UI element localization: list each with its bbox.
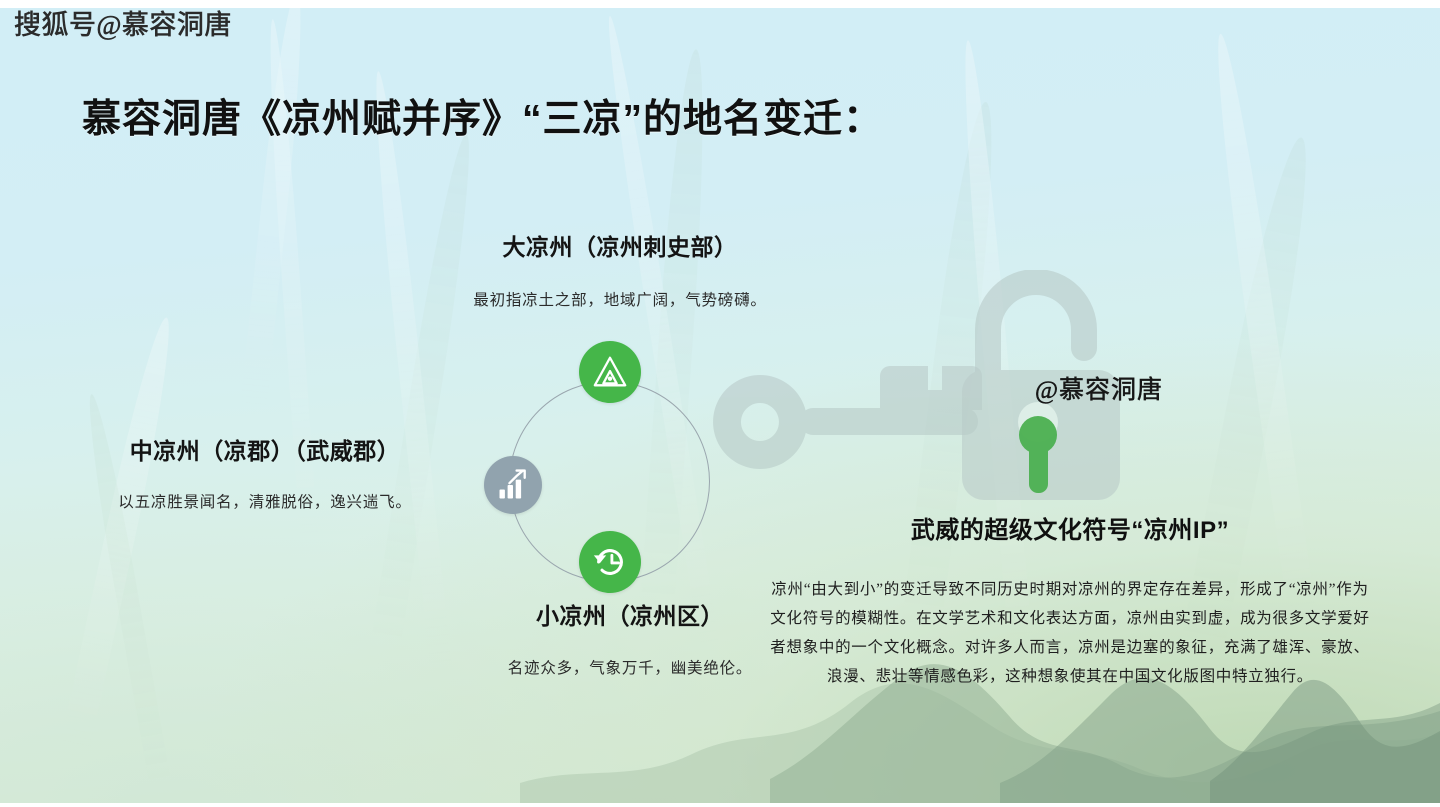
pyramid-triangle-icon (591, 353, 629, 391)
top-white-border (0, 0, 1440, 8)
page-title: 慕容洞唐《凉州赋并序》“三凉”的地名变迁： (82, 88, 883, 144)
right-panel: 武威的超级文化符号“凉州IP” 凉州“由大到小”的变迁导致不同历史时期对凉州的界… (770, 510, 1370, 691)
node-desc-big: 最初指凉土之部，地域广阔，气势磅礴。 (320, 288, 920, 310)
slide-canvas: 搜狐号@慕容洞唐 慕容洞唐《凉州赋并序》“三凉”的地名变迁： @慕容洞唐 (0, 0, 1440, 807)
platform-watermark: 搜狐号@慕容洞唐 (14, 12, 232, 39)
node-text-mid: 中凉州（凉郡）（武威郡） 以五凉胜景闻名，清雅脱俗，逸兴遄飞。 (30, 432, 500, 512)
node-desc-mid: 以五凉胜景闻名，清雅脱俗，逸兴遄飞。 (30, 490, 500, 512)
node-text-big: 大凉州（凉州刺史部） 最初指凉土之部，地域广阔，气势磅礴。 (320, 228, 920, 310)
diagram-node-small[interactable] (579, 531, 641, 593)
node-title-big: 大凉州（凉州刺史部） (320, 228, 920, 262)
growth-bar-chart-icon (495, 467, 531, 503)
diagram-node-big[interactable] (579, 341, 641, 403)
inner-watermark: @慕容洞唐 (1035, 370, 1163, 406)
clock-history-icon (591, 543, 629, 581)
node-title-mid: 中凉州（凉郡）（武威郡） (30, 432, 500, 466)
right-panel-title: 武威的超级文化符号“凉州IP” (770, 510, 1370, 545)
right-panel-body: 凉州“由大到小”的变迁导致不同历史时期对凉州的界定存在差异，形成了“凉州”作为文… (770, 575, 1370, 691)
